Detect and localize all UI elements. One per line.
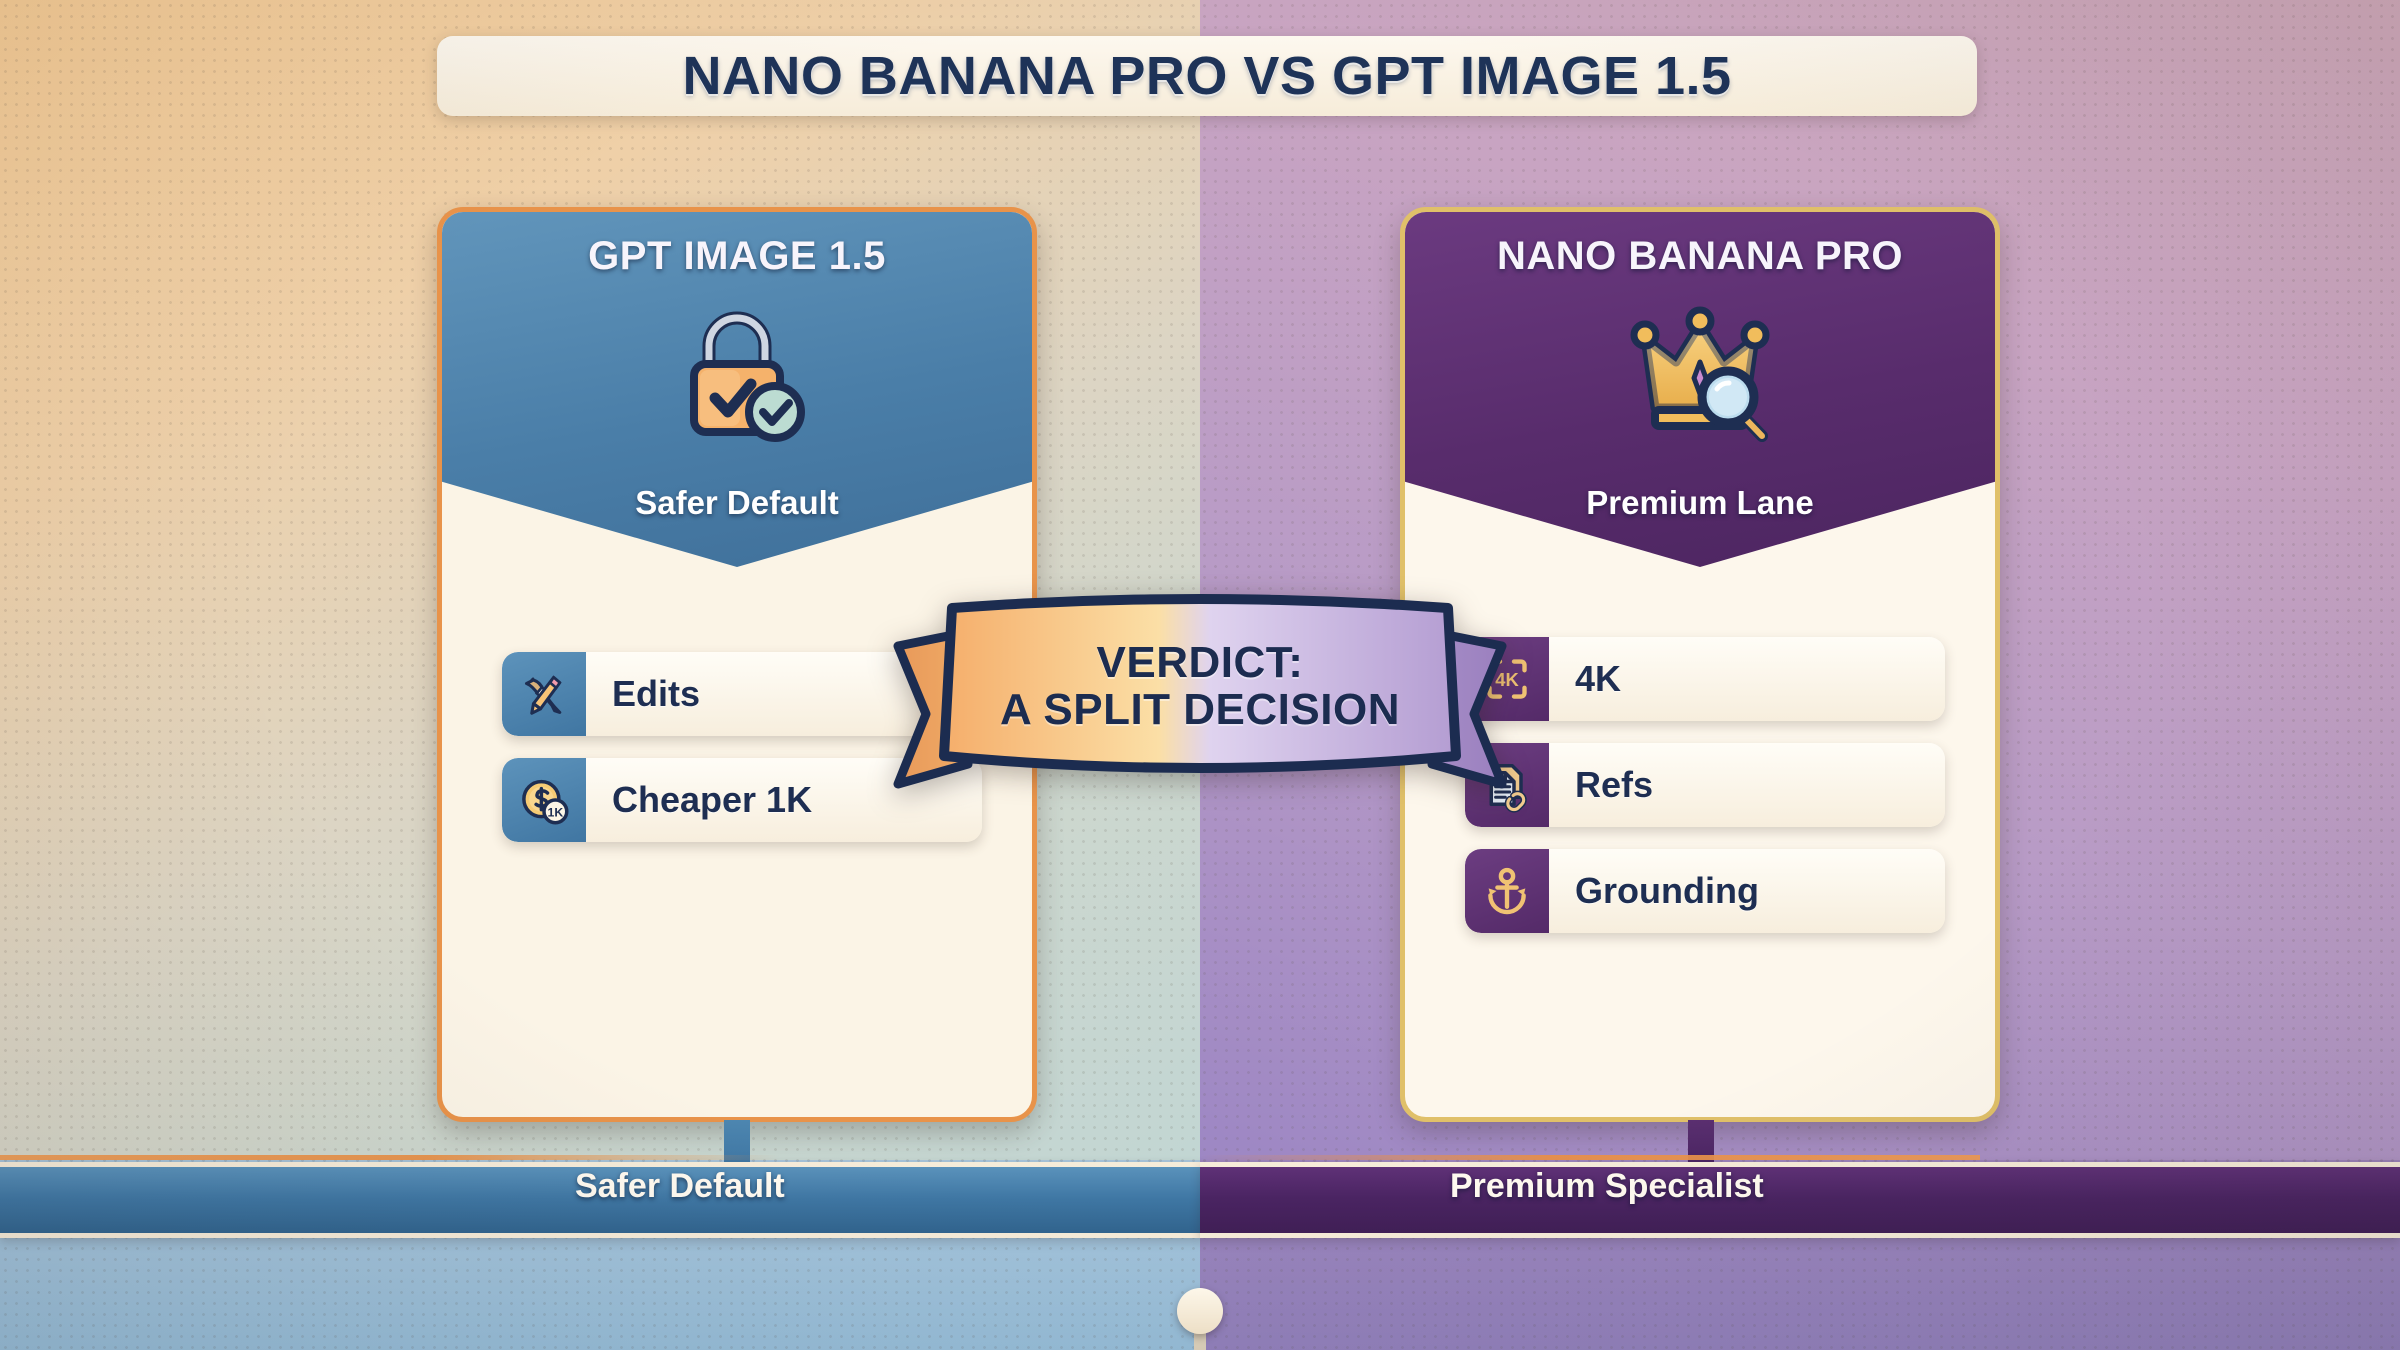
center-hub-node (1177, 1288, 1223, 1334)
brush-pencil-icon (502, 652, 586, 736)
card-subtitle-nano-banana-pro: Premium Lane (1405, 484, 1995, 522)
footer-band-right (1200, 1162, 2400, 1238)
svg-text:1K: 1K (548, 806, 564, 820)
card-subtitle-gpt-image: Safer Default (442, 484, 1032, 522)
footer-roads: Safer Default Premium Specialist (0, 1120, 2400, 1350)
footer-label-left: Safer Default (575, 1167, 785, 1206)
padlock-check-icon (647, 290, 827, 450)
crown-magnifier-icon (1610, 290, 1790, 450)
verdict-ribbon: VERDICT: A SPLIT DECISION (890, 588, 1510, 818)
anchor-icon (1465, 849, 1549, 933)
feature-label-edits: Edits (586, 673, 700, 715)
card-title-gpt-image: GPT IMAGE 1.5 (442, 234, 1032, 279)
feature-chip-4k[interactable]: 4K 4K (1465, 637, 1945, 721)
feature-label-4k: 4K (1549, 658, 1621, 700)
footer-label-right: Premium Specialist (1450, 1167, 1764, 1206)
card-title-nano-banana-pro: NANO BANANA PRO (1405, 234, 1995, 279)
feature-label-cheaper-1k: Cheaper 1K (586, 779, 812, 821)
infographic-canvas: NANO BANANA PRO VS GPT IMAGE 1.5 GPT IMA… (0, 0, 2400, 1350)
feature-chip-refs[interactable]: Refs (1465, 743, 1945, 827)
feature-label-refs: Refs (1549, 764, 1653, 806)
page-title: NANO BANANA PRO VS GPT IMAGE 1.5 (682, 45, 1731, 107)
coin-1k-icon: 1K (502, 758, 586, 842)
road-stripe-right (1200, 1155, 1980, 1160)
feature-chip-grounding[interactable]: Grounding (1465, 849, 1945, 933)
road-stripe-left (0, 1155, 780, 1160)
feature-label-grounding: Grounding (1549, 870, 1759, 912)
title-banner: NANO BANANA PRO VS GPT IMAGE 1.5 (437, 36, 1977, 116)
feature-list-nano-banana-pro: 4K 4K Refs (1465, 637, 1945, 955)
